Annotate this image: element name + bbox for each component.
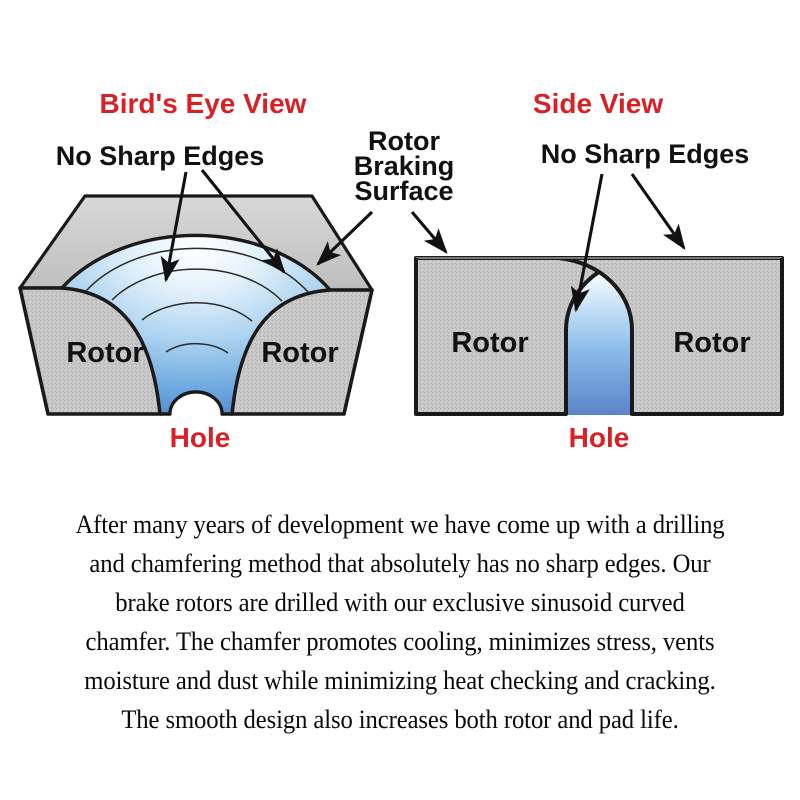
- caption-line: brake rotors are drilled with our exclus…: [41, 583, 759, 622]
- birds-eye-view-block: Rotor Rotor: [20, 196, 372, 414]
- rotor-chamfer-diagram-svg: Bird's Eye View Side View: [0, 0, 800, 480]
- side-view-rotor-label-left: Rotor: [451, 327, 528, 359]
- rbs-line-3: Surface: [354, 176, 453, 206]
- side-view-rotor-label-right: Rotor: [673, 327, 750, 359]
- caption-line: After many years of development we have …: [41, 505, 759, 544]
- rotor-label-left-front: Rotor: [66, 337, 143, 369]
- caption-paragraph: After many years of development we have …: [0, 505, 800, 739]
- rotor-label-right-front: Rotor: [261, 337, 338, 369]
- caption-line: and chamfering method that absolutely ha…: [41, 544, 759, 583]
- hole-label-left-diagram: Hole: [170, 422, 231, 453]
- caption-line: The smooth design also increases both ro…: [41, 700, 759, 739]
- left-diagram-title: Bird's Eye View: [100, 88, 307, 119]
- rbs-arrow-to-right-block: [412, 212, 446, 252]
- caption-line: moisture and dust while minimizing heat …: [41, 661, 759, 700]
- diagram-area: Bird's Eye View Side View: [0, 0, 800, 480]
- side-view-block: Rotor Rotor: [416, 258, 782, 415]
- no-sharp-edges-label-left: No Sharp Edges: [56, 141, 265, 171]
- page-root: Bird's Eye View Side View: [0, 0, 800, 800]
- hole-label-right-diagram: Hole: [569, 422, 630, 453]
- right-diagram-title: Side View: [533, 88, 663, 119]
- no-sharp-edges-label-right: No Sharp Edges: [541, 139, 750, 169]
- caption-line: chamfer. The chamfer promotes cooling, m…: [41, 622, 759, 661]
- rotor-braking-surface-label: Rotor Braking Surface: [354, 126, 455, 206]
- arrow-right-outer: [632, 174, 684, 248]
